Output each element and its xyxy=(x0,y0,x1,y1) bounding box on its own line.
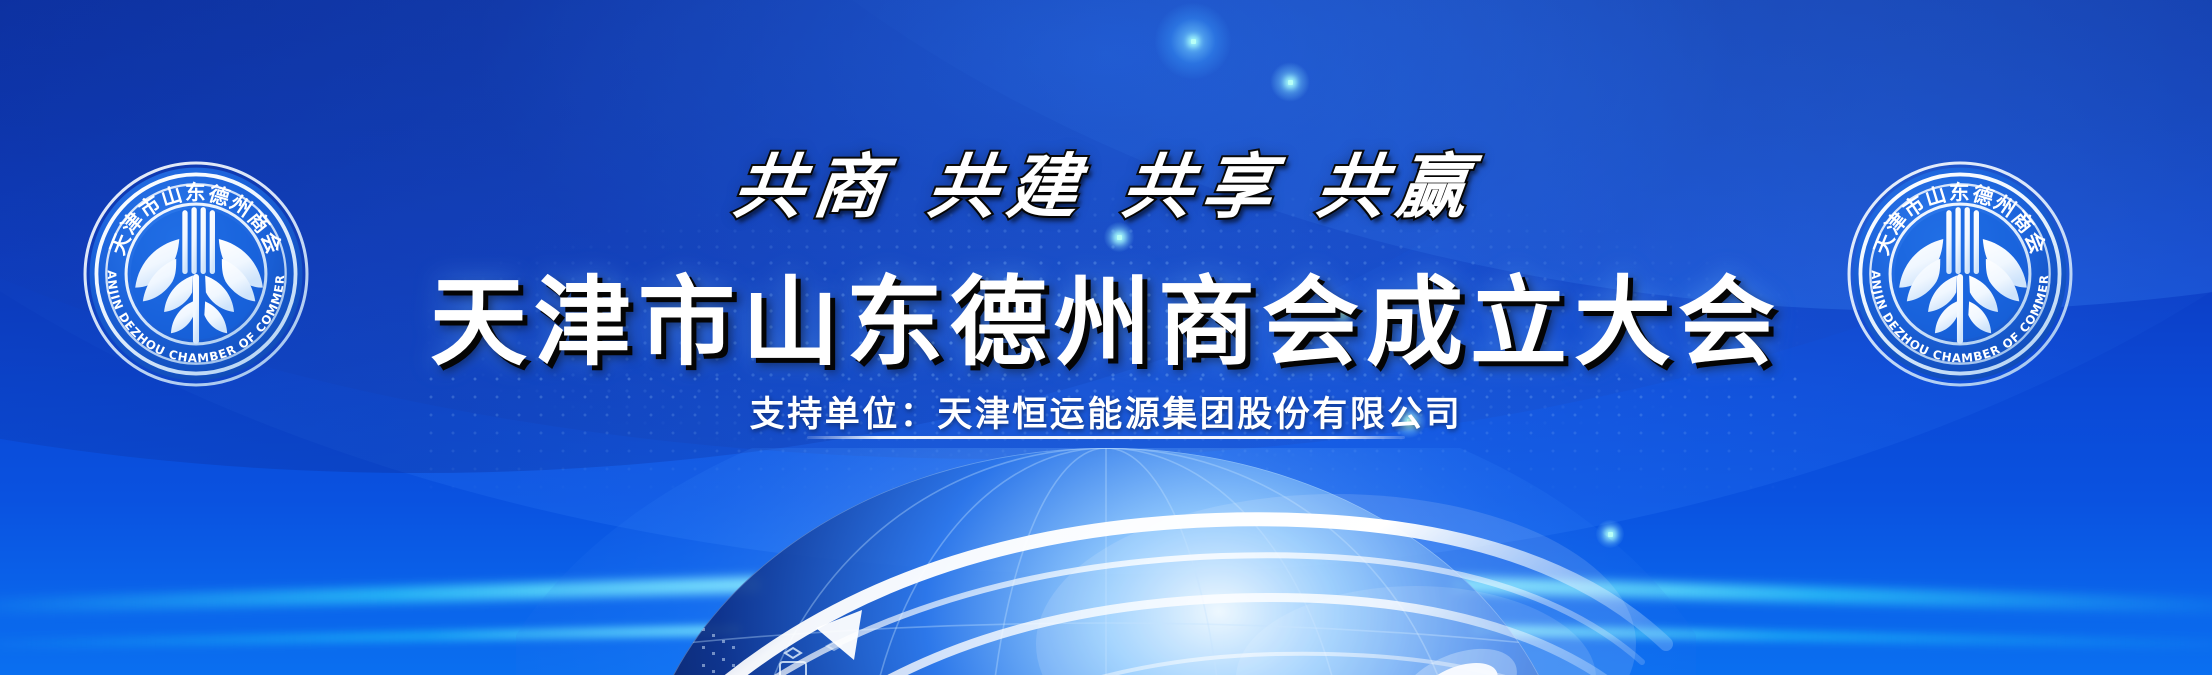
banner-subtitle-wrap: 支持单位：天津恒运能源集团股份有限公司 xyxy=(0,386,2212,437)
chamber-logo-right: 天津市山东德州商会 TIANJIN DEZHOU CHAMBER OF COMM… xyxy=(1846,160,2074,388)
banner-subtitle: 支持单位：天津恒运能源集团股份有限公司 xyxy=(750,386,1463,437)
divider xyxy=(807,436,1405,439)
chamber-logo-left: 天津市山东德州商会 TIANJIN DEZHOU CHAMBER OF COMM… xyxy=(82,160,310,388)
event-banner: 共商 共建 共享 共赢 天津市山东德州商会成立大会 支持单位：天津恒运能源集团股… xyxy=(0,0,2212,675)
